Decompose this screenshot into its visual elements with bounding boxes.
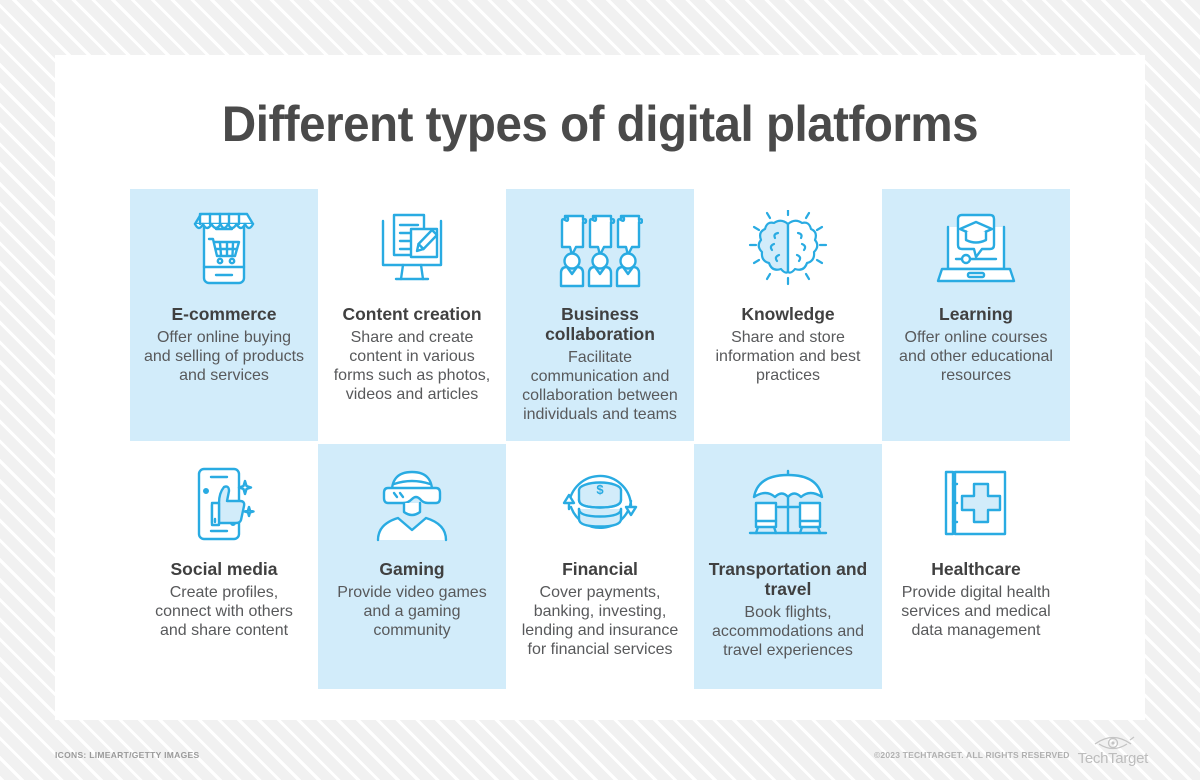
card-description: Facilitate communication and collaborati…: [518, 348, 682, 425]
card-social-media[interactable]: Social media Create profiles, connect wi…: [130, 444, 318, 689]
card-learning[interactable]: Learning Offer online courses and other …: [882, 189, 1070, 441]
coin-stack-arrows-icon: $: [559, 462, 641, 548]
footer: ICONS: LIMEART/GETTY IMAGES ©2023 TECHTA…: [0, 720, 1200, 780]
page-title: Different types of digital platforms: [82, 95, 1118, 153]
copyright-notice: ©2023 TECHTARGET. ALL RIGHTS RESERVED: [874, 750, 1070, 766]
techtarget-logo[interactable]: TechTarget: [1078, 733, 1148, 766]
techtarget-wordmark: TechTarget: [1078, 751, 1148, 766]
card-title: Business collaboration: [518, 305, 682, 345]
card-title: Gaming: [379, 560, 444, 580]
icon-credit: ICONS: LIMEART/GETTY IMAGES: [55, 750, 199, 760]
eye-icon: [1091, 733, 1135, 750]
card-description: Share and create content in various form…: [330, 328, 494, 405]
card-title: Knowledge: [741, 305, 834, 325]
card-description: Provide video games and a gaming communi…: [330, 583, 494, 641]
beach-umbrella-chairs-icon: [744, 462, 832, 548]
card-description: Book flights, accommodations and travel …: [706, 603, 870, 661]
vr-headset-person-icon: [370, 462, 454, 548]
monitor-document-pen-icon: [373, 207, 451, 293]
card-description: Offer online courses and other education…: [894, 328, 1058, 386]
card-title: Content creation: [342, 305, 481, 325]
card-description: Offer online buying and selling of produ…: [142, 328, 306, 386]
card-title: Learning: [939, 305, 1013, 325]
card-healthcare[interactable]: Healthcare Provide digital health servic…: [882, 444, 1070, 689]
platform-card-grid: E-commerce Offer online buying and selli…: [130, 189, 1070, 689]
card-description: Provide digital health services and medi…: [894, 583, 1058, 641]
brain-idea-icon: [748, 207, 828, 293]
phone-thumbs-up-icon: [187, 462, 261, 548]
people-puzzle-speech-bubbles-icon: [557, 207, 643, 293]
card-transportation-and-travel[interactable]: Transportation and travel Book flights, …: [694, 444, 882, 689]
card-title: Financial: [562, 560, 638, 580]
card-title: Healthcare: [931, 560, 1021, 580]
laptop-graduation-cap-icon: [934, 207, 1018, 293]
card-business-collaboration[interactable]: Business collaboration Facilitate commun…: [506, 189, 694, 441]
card-financial[interactable]: $ Financial Cover payments, banking, inv…: [506, 444, 694, 689]
card-description: Share and store information and best pra…: [706, 328, 870, 386]
storefront-phone-cart-icon: [187, 207, 261, 293]
infographic-panel: Different types of digital platforms: [55, 55, 1145, 720]
svg-text:$: $: [596, 482, 604, 497]
card-gaming[interactable]: Gaming Provide video games and a gaming …: [318, 444, 506, 689]
card-e-commerce[interactable]: E-commerce Offer online buying and selli…: [130, 189, 318, 441]
card-title: Social media: [171, 560, 278, 580]
card-title: E-commerce: [171, 305, 276, 325]
card-title: Transportation and travel: [706, 560, 870, 600]
card-knowledge[interactable]: Knowledge Share and store information an…: [694, 189, 882, 441]
medical-book-cross-icon: [941, 462, 1011, 548]
card-description: Create profiles, connect with others and…: [142, 583, 306, 641]
card-description: Cover payments, banking, investing, lend…: [518, 583, 682, 660]
copyright-block: ©2023 TECHTARGET. ALL RIGHTS RESERVED Te…: [874, 733, 1148, 766]
card-content-creation[interactable]: Content creation Share and create conten…: [318, 189, 506, 441]
